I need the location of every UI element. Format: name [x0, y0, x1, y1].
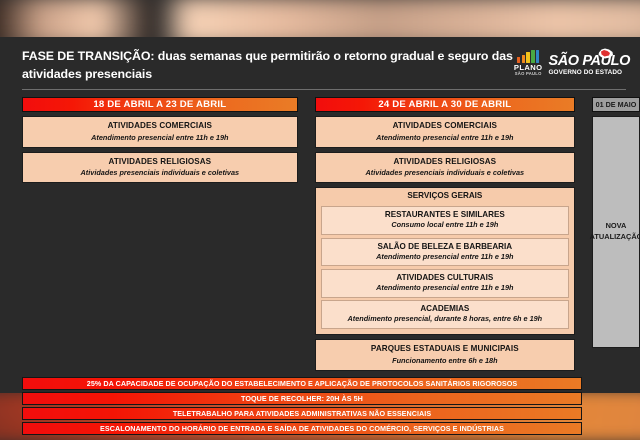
activity-title: ATIVIDADES COMERCIAIS — [322, 121, 568, 131]
rule-item: 25% DA CAPACIDADE DE OCUPAÇÃO DO ESTABEL… — [22, 377, 582, 391]
bar-chart-icon — [517, 50, 540, 63]
activity-subtitle: Funcionamento entre 6h e 18h — [322, 356, 568, 365]
column-week-2: 24 DE ABRIL A 30 DE ABRIL ATIVIDADES COM… — [315, 97, 575, 371]
activity-card: ATIVIDADES RELIGIOSAS Atividades presenc… — [315, 152, 575, 184]
service-card: ATIVIDADES CULTURAIS Atendimento presenc… — [321, 269, 569, 298]
rule-item: TELETRABALHO PARA ATIVIDADES ADMINISTRAT… — [22, 407, 582, 421]
activity-subtitle: Atendimento presencial entre 11h e 19h — [29, 133, 291, 142]
activity-title: ATIVIDADES COMERCIAIS — [29, 121, 291, 131]
activity-subtitle: Atividades presenciais individuais e col… — [322, 168, 568, 177]
service-card: ACADEMIAS Atendimento presencial, durant… — [321, 300, 569, 329]
service-subtitle: Atendimento presencial, durante 8 horas,… — [327, 315, 563, 324]
sp-logo-name: SÃO PAULO — [548, 54, 630, 69]
sp-logo-subtitle: GOVERNO DO ESTADO — [548, 69, 630, 77]
service-subtitle: Atendimento presencial entre 11h e 19h — [327, 253, 563, 262]
service-title: ACADEMIAS — [327, 304, 563, 314]
date-header-week-1: 18 DE ABRIL A 23 DE ABRIL — [22, 97, 298, 112]
logo-group: PLANO SÃO PAULO SÃO PAULO GOVERNO DO EST… — [514, 46, 630, 77]
rule-item: TOQUE DE RECOLHER: 20H ÀS 5H — [22, 392, 582, 406]
service-title: RESTAURANTES E SIMILARES — [327, 210, 563, 220]
service-title: SALÃO DE BELEZA E BARBEARIA — [327, 242, 563, 252]
column-week-3: 01 DE MAIO NOVA ATUALIZAÇÃO — [592, 97, 640, 371]
activity-subtitle: Atendimento presencial entre 11h e 19h — [322, 133, 568, 142]
activity-card: ATIVIDADES RELIGIOSAS Atividades presenc… — [22, 152, 298, 184]
service-title: ATIVIDADES CULTURAIS — [327, 273, 563, 283]
rule-item: ESCALONAMENTO DO HORÁRIO DE ENTRADA E SA… — [22, 422, 582, 436]
activity-title: ATIVIDADES RELIGIOSAS — [322, 157, 568, 167]
activity-title: ATIVIDADES RELIGIOSAS — [29, 157, 291, 167]
activity-card: ATIVIDADES COMERCIAIS Atendimento presen… — [315, 116, 575, 148]
plano-logo-sub: SÃO PAULO — [515, 72, 542, 76]
plano-sao-paulo-logo: PLANO SÃO PAULO — [514, 50, 543, 76]
service-card: SALÃO DE BELEZA E BARBEARIA Atendimento … — [321, 238, 569, 267]
new-update-label: NOVA ATUALIZAÇÃO — [590, 221, 640, 242]
activity-card: ATIVIDADES COMERCIAIS Atendimento presen… — [22, 116, 298, 148]
service-subtitle: Atendimento presencial entre 11h e 19h — [327, 284, 563, 293]
services-group: SERVIÇOS GERAIS RESTAURANTES E SIMILARES… — [315, 187, 575, 335]
card-header: FASE DE TRANSIÇÃO: duas semanas que perm… — [0, 37, 640, 89]
sao-paulo-government-logo: SÃO PAULO GOVERNO DO ESTADO — [548, 49, 630, 77]
infographic-card: FASE DE TRANSIÇÃO: duas semanas que perm… — [0, 37, 640, 393]
date-header-week-3: 01 DE MAIO — [592, 97, 640, 112]
service-card: RESTAURANTES E SIMILARES Consumo local e… — [321, 206, 569, 235]
service-subtitle: Consumo local entre 11h e 19h — [327, 221, 563, 230]
general-rules-list: 25% DA CAPACIDADE DE OCUPAÇÃO DO ESTABEL… — [22, 377, 582, 436]
services-group-title: SERVIÇOS GERAIS — [321, 191, 569, 204]
schedule-columns: 18 DE ABRIL A 23 DE ABRIL ATIVIDADES COM… — [0, 90, 640, 371]
page-title: FASE DE TRANSIÇÃO: duas semanas que perm… — [22, 46, 514, 83]
column-week-1: 18 DE ABRIL A 23 DE ABRIL ATIVIDADES COM… — [22, 97, 298, 371]
date-header-week-2: 24 DE ABRIL A 30 DE ABRIL — [315, 97, 575, 112]
activity-subtitle: Atividades presenciais individuais e col… — [29, 168, 291, 177]
sao-paulo-state-map-icon — [598, 48, 614, 59]
new-update-panel: NOVA ATUALIZAÇÃO — [592, 116, 640, 348]
activity-title: PARQUES ESTADUAIS E MUNICIPAIS — [322, 344, 568, 354]
activity-card-parks: PARQUES ESTADUAIS E MUNICIPAIS Funcionam… — [315, 339, 575, 371]
